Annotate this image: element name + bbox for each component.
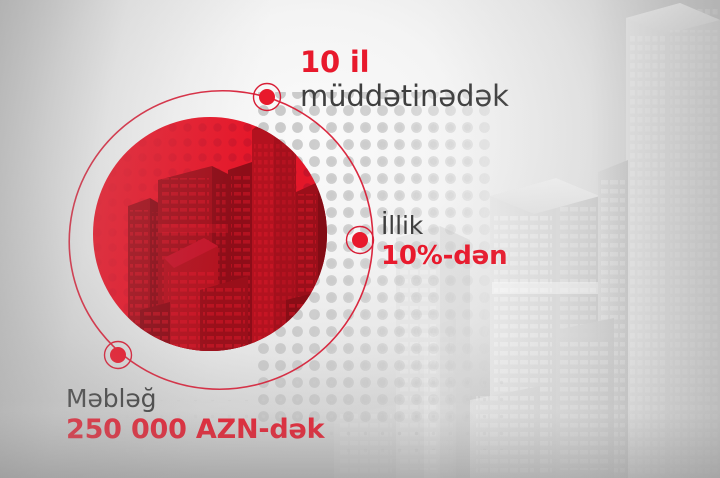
loan-amount-label: Məbləğ	[66, 385, 324, 412]
callout-interest-rate: İllik 10%-dən	[381, 212, 507, 270]
loan-term-label: müddətinədək	[300, 81, 509, 112]
callout-loan-term: 10 il müddətinədək	[300, 47, 509, 113]
loan-term-value: 10 il	[300, 47, 509, 78]
promo-banner: 10 il müddətinədək İllik 10%-dən Məbləğ …	[0, 0, 720, 478]
marker-amount	[105, 342, 132, 369]
callout-loan-amount: Məbləğ 250 000 AZN-dək	[66, 385, 324, 444]
loan-amount-value: 250 000 AZN-dək	[66, 415, 324, 444]
interest-rate-value: 10%-dən	[381, 242, 507, 270]
marker-rate	[347, 227, 374, 254]
interest-rate-label: İllik	[381, 212, 507, 239]
marker-term	[254, 84, 281, 111]
